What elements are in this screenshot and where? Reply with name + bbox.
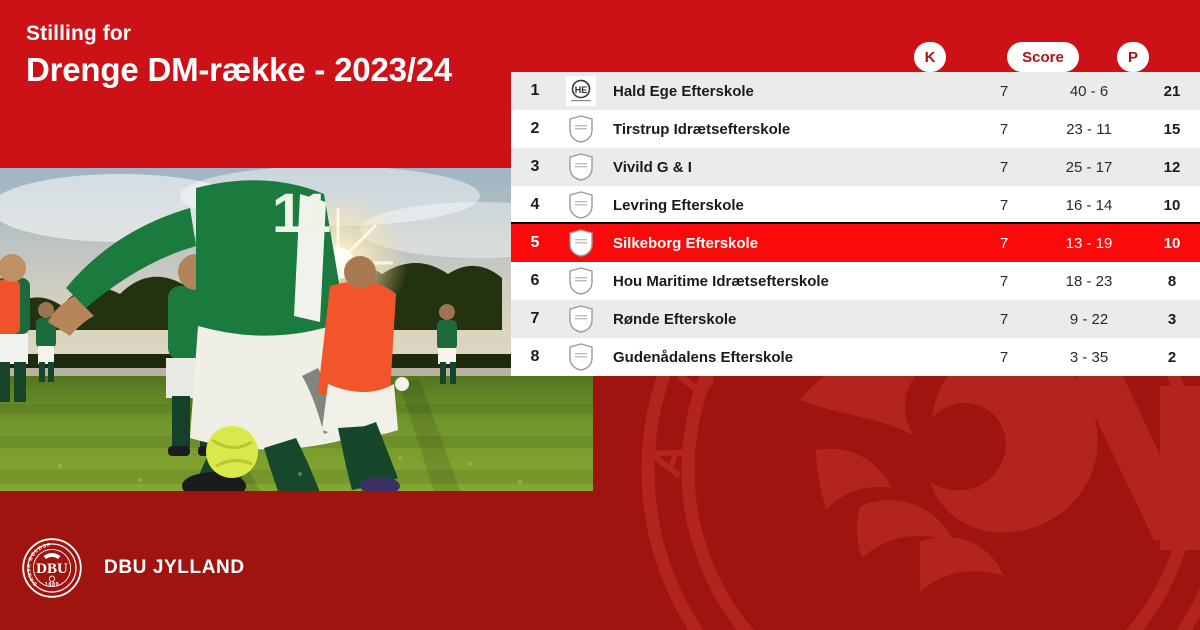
matches-played: 7 bbox=[974, 121, 1034, 138]
table-row[interactable]: 5 Silkeborg Efterskole713 - 1910 bbox=[511, 224, 1200, 262]
table-row[interactable]: 1 HE Hald Ege Efterskole740 - 621 bbox=[511, 72, 1200, 110]
row-position: 7 bbox=[511, 310, 559, 328]
points: 10 bbox=[1144, 197, 1200, 214]
team-name: Tirstrup Idrætsefterskole bbox=[603, 121, 974, 138]
goal-score: 18 - 23 bbox=[1034, 273, 1144, 290]
svg-text:DBU: DBU bbox=[36, 560, 68, 576]
goal-score: 40 - 6 bbox=[1034, 83, 1144, 100]
team-name: Vivild G & I bbox=[603, 159, 974, 176]
footer-bar: DANSK BOLDSPIL UNION DBU 1889 DBU JYLLAN… bbox=[0, 505, 1200, 630]
points: 8 bbox=[1144, 273, 1200, 290]
team-crest-icon bbox=[559, 152, 603, 182]
goal-score: 16 - 14 bbox=[1034, 197, 1144, 214]
points: 10 bbox=[1144, 235, 1200, 252]
svg-text:HE: HE bbox=[575, 85, 588, 95]
goal-score: 13 - 19 bbox=[1034, 235, 1144, 252]
matches-played: 7 bbox=[974, 235, 1034, 252]
column-header-score: Score bbox=[1007, 42, 1079, 72]
dbu-logo-icon: DANSK BOLDSPIL UNION DBU 1889 bbox=[22, 538, 82, 598]
hero-photo: 11 bbox=[0, 168, 593, 491]
matches-played: 7 bbox=[974, 197, 1034, 214]
matches-played: 7 bbox=[974, 83, 1034, 100]
matches-played: 7 bbox=[974, 349, 1034, 366]
points: 3 bbox=[1144, 311, 1200, 328]
svg-text:11: 11 bbox=[272, 181, 331, 244]
team-crest-icon: HE bbox=[559, 76, 603, 106]
team-crest-icon bbox=[559, 114, 603, 144]
row-position: 8 bbox=[511, 348, 559, 366]
table-row[interactable]: 4 Levring Efterskole716 - 1410 bbox=[511, 186, 1200, 224]
table-row[interactable]: 2 Tirstrup Idrætsefterskole723 - 1115 bbox=[511, 110, 1200, 148]
svg-text:1889: 1889 bbox=[45, 582, 59, 588]
footer-org-name: DBU JYLLAND bbox=[104, 557, 245, 579]
page-title: Drenge DM-række - 2023/24 bbox=[26, 50, 496, 90]
team-crest-icon bbox=[559, 190, 603, 220]
matches-played: 7 bbox=[974, 311, 1034, 328]
standings-graphic: D A D B Stilling for Drenge DM-række - 2… bbox=[0, 0, 1200, 630]
table-row[interactable]: 3 Vivild G & I725 - 1712 bbox=[511, 148, 1200, 186]
goal-score: 9 - 22 bbox=[1034, 311, 1144, 328]
column-header-points: P bbox=[1117, 42, 1149, 72]
table-row[interactable]: 8 Gudenådalens Efterskole73 - 352 bbox=[511, 338, 1200, 376]
team-crest-icon bbox=[559, 342, 603, 372]
row-position: 1 bbox=[511, 82, 559, 100]
team-name: Silkeborg Efterskole bbox=[603, 235, 974, 252]
svg-text:D: D bbox=[1178, 374, 1200, 432]
column-header-played: K bbox=[914, 42, 946, 72]
points: 15 bbox=[1144, 121, 1200, 138]
team-name: Rønde Efterskole bbox=[603, 311, 974, 328]
matches-played: 7 bbox=[974, 159, 1034, 176]
table-row[interactable]: 7 Rønde Efterskole79 - 223 bbox=[511, 300, 1200, 338]
kicker-label: Stilling for bbox=[26, 22, 131, 46]
row-position: 5 bbox=[511, 234, 559, 252]
row-position: 4 bbox=[511, 196, 559, 214]
table-row[interactable]: 6 Hou Maritime Idrætsefterskole718 - 238 bbox=[511, 262, 1200, 300]
standings-table: 1 HE Hald Ege Efterskole740 - 6212 Tirst… bbox=[511, 72, 1200, 376]
goal-score: 25 - 17 bbox=[1034, 159, 1144, 176]
team-name: Levring Efterskole bbox=[603, 197, 974, 214]
row-position: 3 bbox=[511, 158, 559, 176]
team-crest-icon bbox=[559, 266, 603, 296]
points: 21 bbox=[1144, 83, 1200, 100]
points: 2 bbox=[1144, 349, 1200, 366]
team-name: Hou Maritime Idrætsefterskole bbox=[603, 273, 974, 290]
team-name: Hald Ege Efterskole bbox=[603, 83, 974, 100]
matches-played: 7 bbox=[974, 273, 1034, 290]
team-name: Gudenådalens Efterskole bbox=[603, 349, 974, 366]
row-position: 2 bbox=[511, 120, 559, 138]
team-crest-icon bbox=[559, 228, 603, 258]
svg-text:A: A bbox=[638, 435, 698, 483]
table-column-headers: K Score P bbox=[511, 42, 1200, 74]
points: 12 bbox=[1144, 159, 1200, 176]
team-crest-icon bbox=[559, 304, 603, 334]
goal-score: 23 - 11 bbox=[1034, 121, 1144, 138]
row-position: 6 bbox=[511, 272, 559, 290]
goal-score: 3 - 35 bbox=[1034, 349, 1144, 366]
